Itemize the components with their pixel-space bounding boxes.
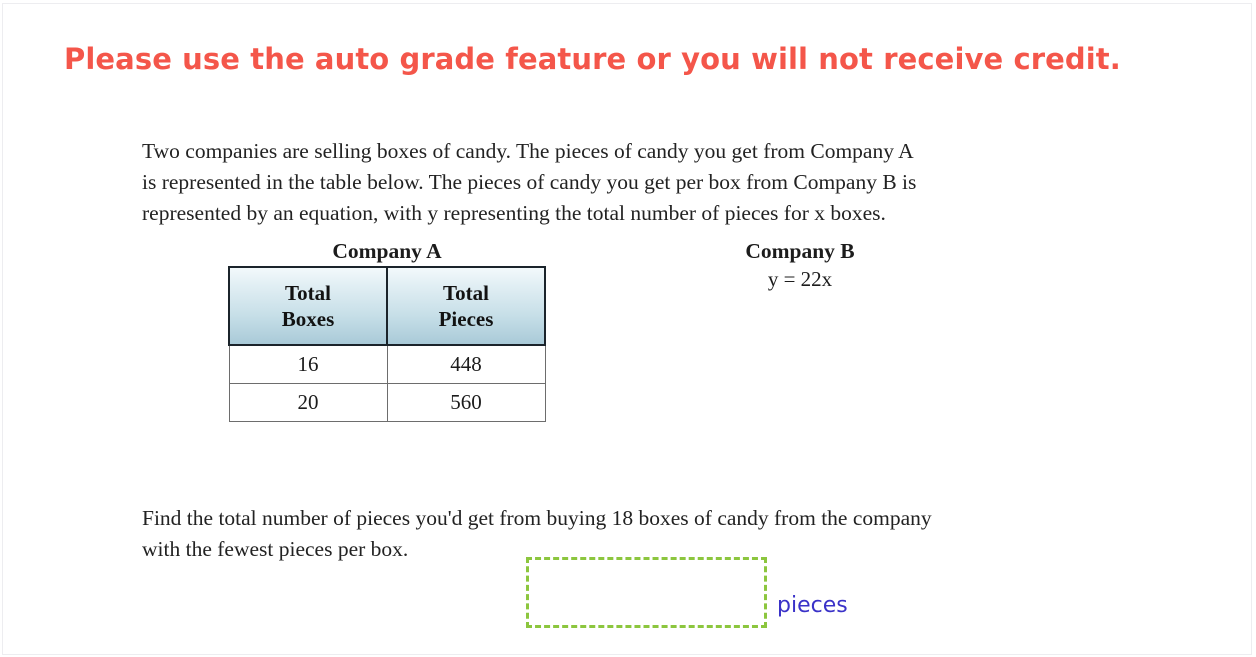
company-b-title: Company B: [690, 238, 910, 264]
company-a-block: Company A Total Boxes Total Pieces 16: [228, 238, 546, 422]
company-a-title: Company A: [228, 238, 546, 264]
table-row: 20 560: [229, 383, 545, 421]
problem-statement-line-2: is represented in the table below. The p…: [142, 167, 1127, 198]
cell-boxes-row-1: 16: [229, 345, 387, 383]
column-header-total-pieces: Total Pieces: [387, 267, 545, 345]
column-header-total-boxes: Total Boxes: [229, 267, 387, 345]
question-prompt: Find the total number of pieces you'd ge…: [142, 503, 1142, 565]
problem-statement-line-1: Two companies are selling boxes of candy…: [142, 136, 1127, 167]
company-b-equation: y = 22x: [690, 264, 910, 294]
question-prompt-line-1: Find the total number of pieces you'd ge…: [142, 503, 1142, 534]
table-row: 16 448: [229, 345, 545, 383]
company-b-block: Company B y = 22x: [690, 238, 910, 294]
column-header-total-pieces-line-1: Total: [388, 280, 544, 306]
problem-statement-line-3: represented by an equation, with y repre…: [142, 198, 1127, 229]
company-a-table: Total Boxes Total Pieces 16 448 20 560: [228, 266, 546, 422]
column-header-total-pieces-line-2: Pieces: [388, 306, 544, 332]
cell-pieces-row-2: 560: [387, 383, 545, 421]
problem-statement: Two companies are selling boxes of candy…: [142, 136, 1127, 229]
grading-instruction-banner: Please use the auto grade feature or you…: [64, 40, 1194, 78]
worksheet-content: Please use the auto grade feature or you…: [0, 0, 1256, 657]
answer-input[interactable]: [526, 557, 767, 628]
column-header-total-boxes-line-1: Total: [230, 280, 386, 306]
answer-unit-label: pieces: [777, 592, 848, 620]
cell-boxes-row-2: 20: [229, 383, 387, 421]
column-header-total-boxes-line-2: Boxes: [230, 306, 386, 332]
table-header-row: Total Boxes Total Pieces: [229, 267, 545, 345]
cell-pieces-row-1: 448: [387, 345, 545, 383]
